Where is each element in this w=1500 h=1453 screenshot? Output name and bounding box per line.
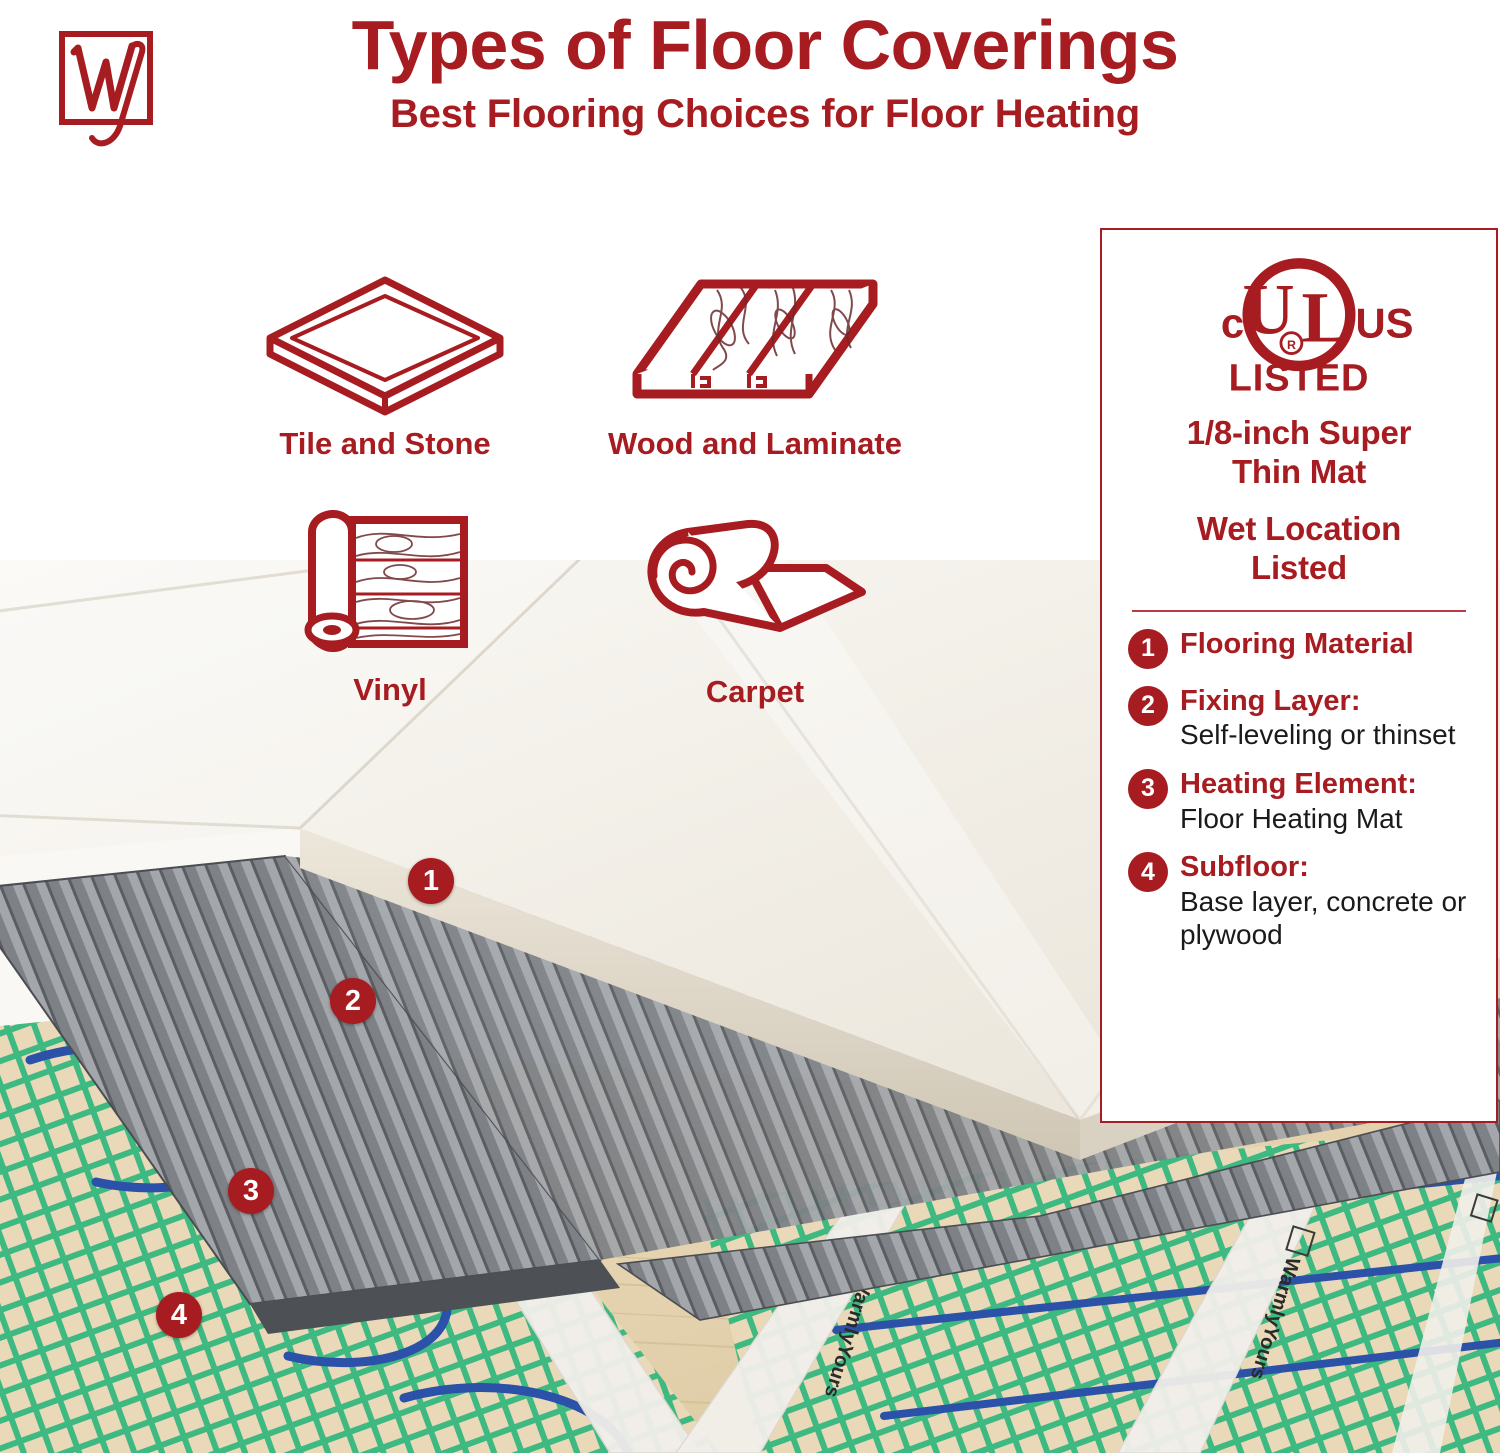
ul-listed-mark-icon: U L R c US LISTED	[1128, 252, 1470, 402]
product-name-line-1: 1/8-inch Super	[1128, 414, 1470, 453]
flooring-type-vinyl[interactable]: Vinyl	[240, 498, 540, 708]
vinyl-roll-icon	[290, 498, 490, 666]
callout-badge-3: 3	[228, 1168, 274, 1214]
legend-item-3: 3 Heating Element: Floor Heating Mat	[1128, 768, 1470, 835]
flooring-type-wood[interactable]: Wood and Laminate	[560, 270, 950, 462]
page-subtitle: Best Flooring Choices for Floor Heating	[200, 92, 1330, 137]
wood-planks-icon	[605, 270, 905, 420]
rating-line-2: Listed	[1128, 549, 1470, 588]
flooring-type-label: Wood and Laminate	[560, 426, 950, 462]
legend-title-2: Fixing Layer:	[1180, 685, 1470, 719]
ul-listed-text: LISTED	[1229, 358, 1370, 400]
legend-item-1: 1 Flooring Material	[1128, 628, 1470, 669]
legend-title-4: Subfloor:	[1180, 851, 1470, 885]
legend-desc-2: Self-leveling or thinset	[1180, 718, 1470, 752]
flooring-type-label: Carpet	[575, 674, 935, 710]
flooring-type-carpet[interactable]: Carpet	[575, 508, 935, 710]
legend-desc-4: Base layer, concrete or plywood	[1180, 885, 1470, 952]
specification-panel: U L R c US LISTED 1/8-inch Super Thin Ma…	[1100, 228, 1498, 1123]
legend-badge-3: 3	[1128, 769, 1168, 809]
ul-letter-l: L	[1302, 277, 1350, 357]
carpet-roll-icon	[630, 508, 880, 668]
legend-title-3: Heating Element:	[1180, 768, 1470, 802]
legend-item-4: 4 Subfloor: Base layer, concrete or plyw…	[1128, 851, 1470, 952]
legend-badge-2: 2	[1128, 686, 1168, 726]
registered-mark: R	[1287, 338, 1296, 352]
ul-suffix-us: US	[1355, 299, 1413, 346]
product-name-line-2: Thin Mat	[1128, 453, 1470, 492]
tile-slab-icon	[260, 270, 510, 420]
warmlyyours-wy-monogram-icon	[48, 22, 176, 150]
callout-badge-4: 4	[156, 1292, 202, 1338]
flooring-type-label: Vinyl	[240, 672, 540, 708]
panel-divider	[1132, 610, 1466, 612]
legend-badge-4: 4	[1128, 852, 1168, 892]
legend-item-2: 2 Fixing Layer: Self-leveling or thinset	[1128, 685, 1470, 752]
ul-prefix-c: c	[1221, 299, 1244, 346]
flooring-type-label: Tile and Stone	[230, 426, 540, 462]
flooring-type-tile[interactable]: Tile and Stone	[230, 270, 540, 462]
legend-badge-1: 1	[1128, 629, 1168, 669]
page-header: Types of Floor Coverings Best Flooring C…	[0, 0, 1500, 180]
callout-badge-2: 2	[330, 978, 376, 1024]
legend-title-1: Flooring Material	[1180, 628, 1470, 662]
rating-line-1: Wet Location	[1128, 510, 1470, 549]
legend-desc-3: Floor Heating Mat	[1180, 802, 1470, 836]
page-title: Types of Floor Coverings	[200, 8, 1330, 82]
flooring-types-icon-grid: Tile and Stone	[230, 270, 950, 770]
callout-badge-1: 1	[408, 858, 454, 904]
title-block: Types of Floor Coverings Best Flooring C…	[200, 8, 1330, 137]
